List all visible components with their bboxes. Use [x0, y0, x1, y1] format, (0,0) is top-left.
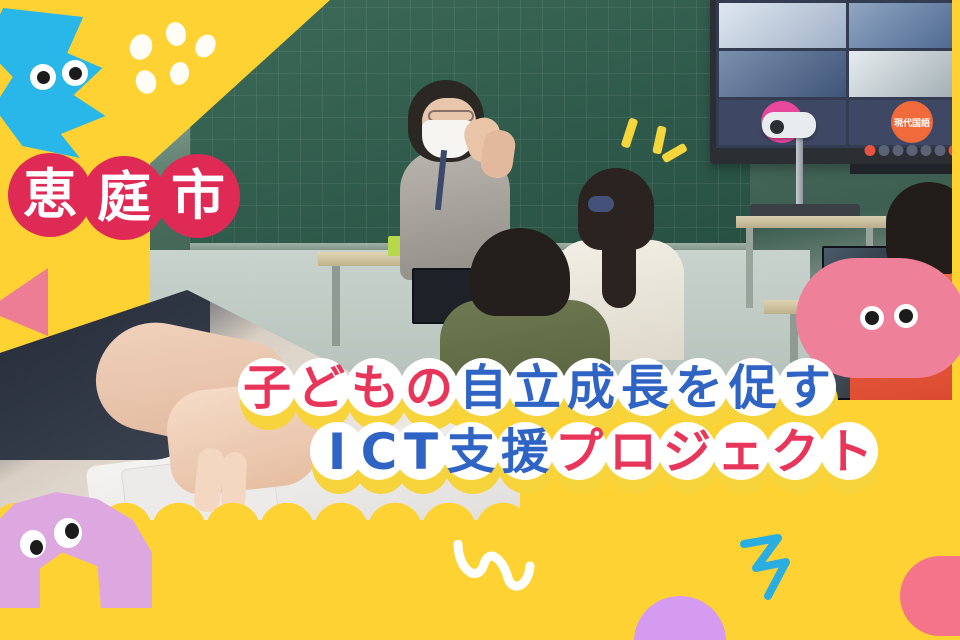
title-char-text: ト: [825, 428, 873, 476]
eye-icon: [54, 518, 82, 548]
title-char-text: 成: [567, 364, 615, 412]
title-char: 成: [560, 352, 622, 424]
title-char-text: も: [351, 364, 399, 412]
eye-icon: [860, 306, 884, 330]
title-char: T: [398, 416, 444, 488]
video-conference-display: 師範 現代国語 裕一: [710, 0, 960, 164]
avatar: 現代国語: [891, 101, 933, 143]
eye-icon: [20, 530, 46, 558]
title-char-text: の: [405, 364, 453, 412]
promo-banner: 師範 現代国語 裕一: [0, 0, 960, 640]
title-char-text: を: [675, 364, 723, 412]
title-char-text: I: [328, 427, 347, 477]
city-badge-char: 恵: [8, 153, 92, 237]
title-char: ロ: [602, 416, 664, 488]
title-char: ど: [290, 352, 352, 424]
camera-icon: [879, 145, 890, 156]
participants-icon: [893, 145, 904, 156]
more-icon: [935, 145, 946, 156]
mic-icon: [865, 145, 876, 156]
title-char: ク: [764, 416, 826, 488]
title-line-2: I C T 支 援 プ ロ ジ ェ ク ト: [314, 416, 952, 488]
camera-lens-icon: [770, 120, 784, 134]
title-char-text: ロ: [609, 428, 657, 476]
title-char-text: 援: [501, 428, 549, 476]
conference-grid: 師範 現代国語 裕一: [716, 0, 960, 148]
scalloped-edge: [0, 494, 960, 530]
title-char: 長: [614, 352, 676, 424]
city-badge-char: 庭: [82, 156, 166, 240]
title-line-1: 子 ど も の 自 立 成 長 を 促 す: [236, 352, 952, 424]
title-char: も: [344, 352, 406, 424]
title-char-text: ど: [297, 364, 345, 412]
title-char-text: 自: [459, 364, 507, 412]
title-char-text: 立: [513, 364, 561, 412]
city-badge-char: 市: [156, 154, 240, 238]
title-char-text: C: [361, 427, 398, 477]
desk-leg: [746, 228, 753, 308]
title-char-text: 支: [447, 428, 495, 476]
pupil-icon: [37, 71, 50, 84]
conference-tile: [849, 51, 960, 96]
white-squiggle-icon: [452, 540, 562, 596]
blue-zigzag-icon: [738, 532, 818, 604]
title-char-text: プ: [555, 428, 603, 476]
title-char: 促: [722, 352, 784, 424]
title-char: 立: [506, 352, 568, 424]
title-char-text: 子: [243, 364, 291, 412]
city-badge: 恵 庭 市: [8, 150, 230, 240]
conference-avatar-tile: 現代国語: [849, 100, 960, 145]
title-char: プ: [548, 416, 610, 488]
title-char-text: 長: [621, 364, 669, 412]
side-desk: [736, 216, 886, 228]
pupil-icon: [865, 311, 879, 325]
title-char-text: ク: [771, 428, 819, 476]
title-char: す: [776, 352, 838, 424]
title-char: ト: [818, 416, 880, 488]
title-char: ェ: [710, 416, 772, 488]
pupil-icon: [69, 67, 82, 80]
title-char: 自: [452, 352, 514, 424]
eye-icon: [30, 64, 56, 90]
title-char-text: ジ: [663, 428, 711, 476]
title-char: 子: [236, 352, 298, 424]
desk-leg: [332, 266, 340, 346]
monitor-stand: [850, 164, 960, 174]
title-char: 支: [440, 416, 502, 488]
pupil-icon: [899, 309, 913, 323]
title-char-text: 促: [729, 364, 777, 412]
title-char: C: [356, 416, 402, 488]
title-char: の: [398, 352, 460, 424]
share-icon: [921, 145, 932, 156]
title-char: ジ: [656, 416, 718, 488]
eye-icon: [62, 60, 88, 86]
page-title: 子 ど も の 自 立 成 長 を 促 す I C T 支 援 プ ロ ジ ェ …: [236, 352, 952, 488]
title-char: 援: [494, 416, 556, 488]
chat-icon: [907, 145, 918, 156]
title-char: を: [668, 352, 730, 424]
title-char-text: T: [404, 427, 438, 477]
pupil-icon: [30, 540, 43, 555]
title-char-text: ェ: [717, 428, 765, 476]
title-char-text: す: [783, 364, 831, 412]
conference-tile: [719, 3, 846, 48]
pupil-icon: [65, 523, 79, 539]
eye-icon: [894, 304, 918, 328]
hair-band: [588, 196, 614, 212]
conference-tile: [849, 3, 960, 48]
conference-tile: [719, 51, 846, 96]
conference-toolbar: [865, 145, 960, 156]
